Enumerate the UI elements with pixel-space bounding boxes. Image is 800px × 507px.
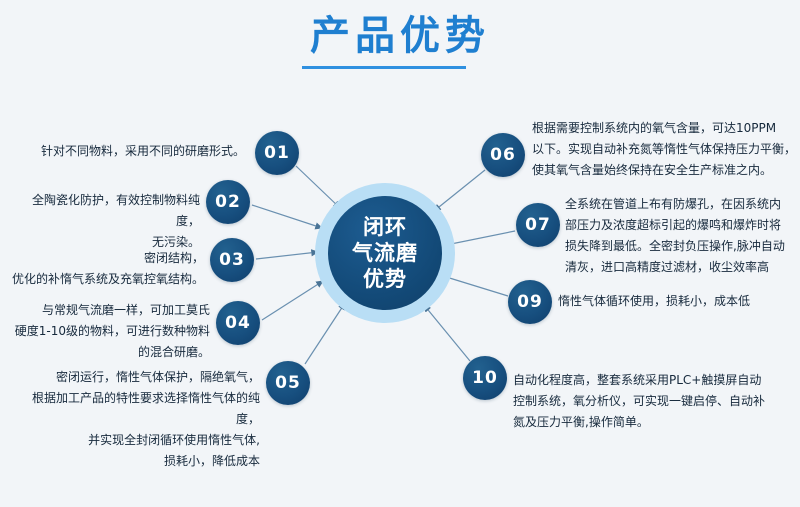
badge-10[interactable]: 10 — [463, 356, 507, 400]
item-text-07: 全系统在管道上布有防爆孔，在因系统内 部压力及浓度超标引起的爆鸣和爆炸时将 损失… — [565, 194, 800, 278]
item-text-01: 针对不同物料，采用不同的研磨形式。 — [30, 141, 245, 162]
item-text-03: 密闭结构， 优化的补惰气系统及充氧控氧结构。 — [12, 248, 204, 290]
item-text-02: 全陶瓷化防护，有效控制物料纯度， 无污染。 — [12, 190, 200, 253]
badge-09[interactable]: 09 — [508, 280, 552, 324]
badge-04[interactable]: 04 — [216, 301, 260, 345]
badge-05[interactable]: 05 — [266, 361, 310, 405]
hub-label: 闭环 气流磨 优势 — [352, 214, 418, 292]
item-text-10: 自动化程度高，整套系统采用PLC+触摸屏自动 控制系统，氧分析仪，可实现一键启停… — [513, 370, 800, 433]
badge-07[interactable]: 07 — [516, 203, 560, 247]
badge-02[interactable]: 02 — [206, 180, 250, 224]
badge-01[interactable]: 01 — [255, 131, 299, 175]
item-text-06: 根据需要控制系统内的氧气含量，可达10PPM 以下。实现自动补充氮等惰性气体保持… — [532, 118, 800, 181]
hub-label-line-3: 优势 — [352, 266, 418, 292]
item-text-05: 密闭运行，惰性气体保护，隔绝氧气， 根据加工产品的特性要求选择惰性气体的纯度， … — [12, 367, 260, 472]
hub-center: 闭环 气流磨 优势 — [328, 196, 442, 310]
infographic-canvas: 产品优势 — [0, 0, 800, 507]
item-text-09: 惰性气体循环使用，损耗小，成本低 — [558, 291, 798, 312]
badge-06[interactable]: 06 — [481, 133, 525, 177]
item-text-04: 与常规气流磨一样，可加工莫氏 硬度1-10级的物料，可进行数种物料 的混合研磨。 — [12, 300, 210, 363]
badge-03[interactable]: 03 — [210, 238, 254, 282]
hub-label-line-2: 气流磨 — [352, 240, 418, 266]
hub-label-line-1: 闭环 — [352, 214, 418, 240]
